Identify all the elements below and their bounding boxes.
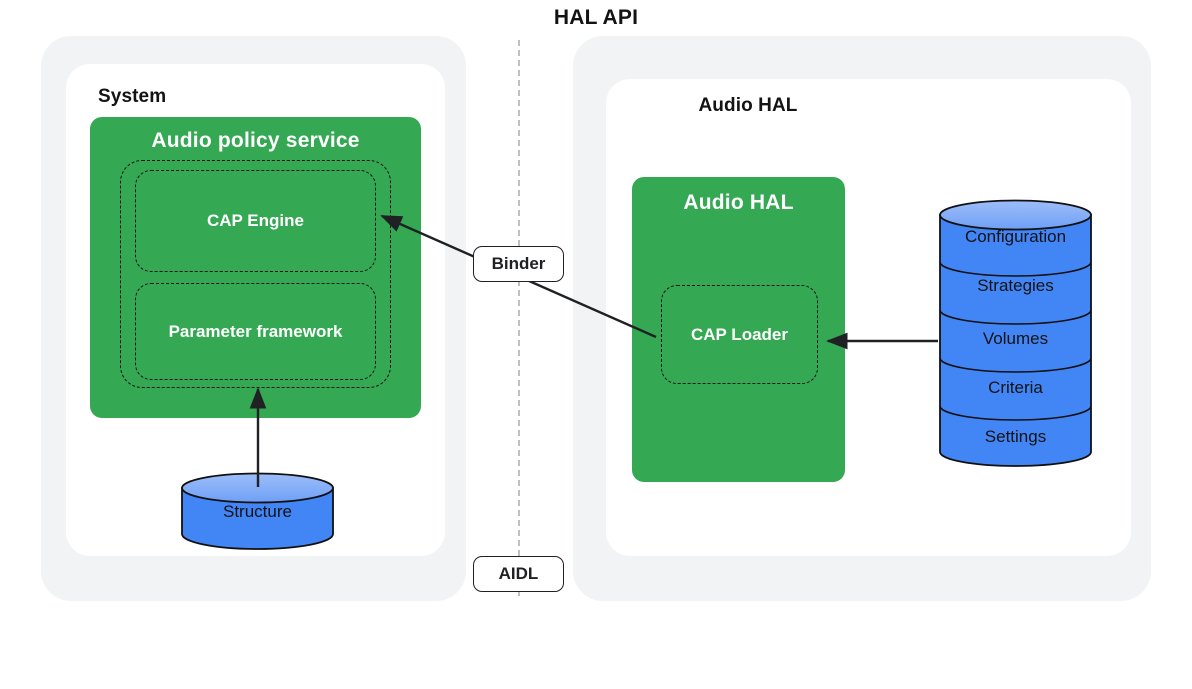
data-store-segment-label: Volumes (938, 329, 1093, 349)
system-panel-heading: System (98, 86, 166, 108)
audio-hal-software-title: Audio HAL (632, 191, 845, 215)
cap-engine-box: CAP Engine (135, 170, 376, 272)
data-store-segment-label: Settings (938, 427, 1093, 447)
legend: Legend: Configuration data Software Prot… (0, 612, 1192, 664)
audio-policy-service-title: Audio policy service (90, 129, 421, 153)
cap-loader-box: CAP Loader (661, 285, 818, 384)
protocol-pill-aidl[interactable]: AIDL (473, 556, 564, 592)
data-store-segment-label: Strategies (938, 276, 1093, 296)
hal-api-divider (518, 40, 520, 596)
parameter-framework-box: Parameter framework (135, 283, 376, 380)
structure-data-store: Structure (180, 472, 335, 550)
diagram-canvas: HAL API System Audio HAL Audio policy se… (0, 0, 1192, 689)
structure-label: Structure (180, 502, 335, 522)
audio-hal-panel-heading: Audio HAL (606, 95, 890, 117)
data-store-segment-label: Criteria (938, 378, 1093, 398)
configuration-data-store: Configuration Strategies Volumes Criteri… (938, 198, 1093, 468)
page-title: HAL API (0, 6, 1192, 30)
protocol-pill-binder[interactable]: Binder (473, 246, 564, 282)
data-store-segment-label: Configuration (938, 227, 1093, 247)
